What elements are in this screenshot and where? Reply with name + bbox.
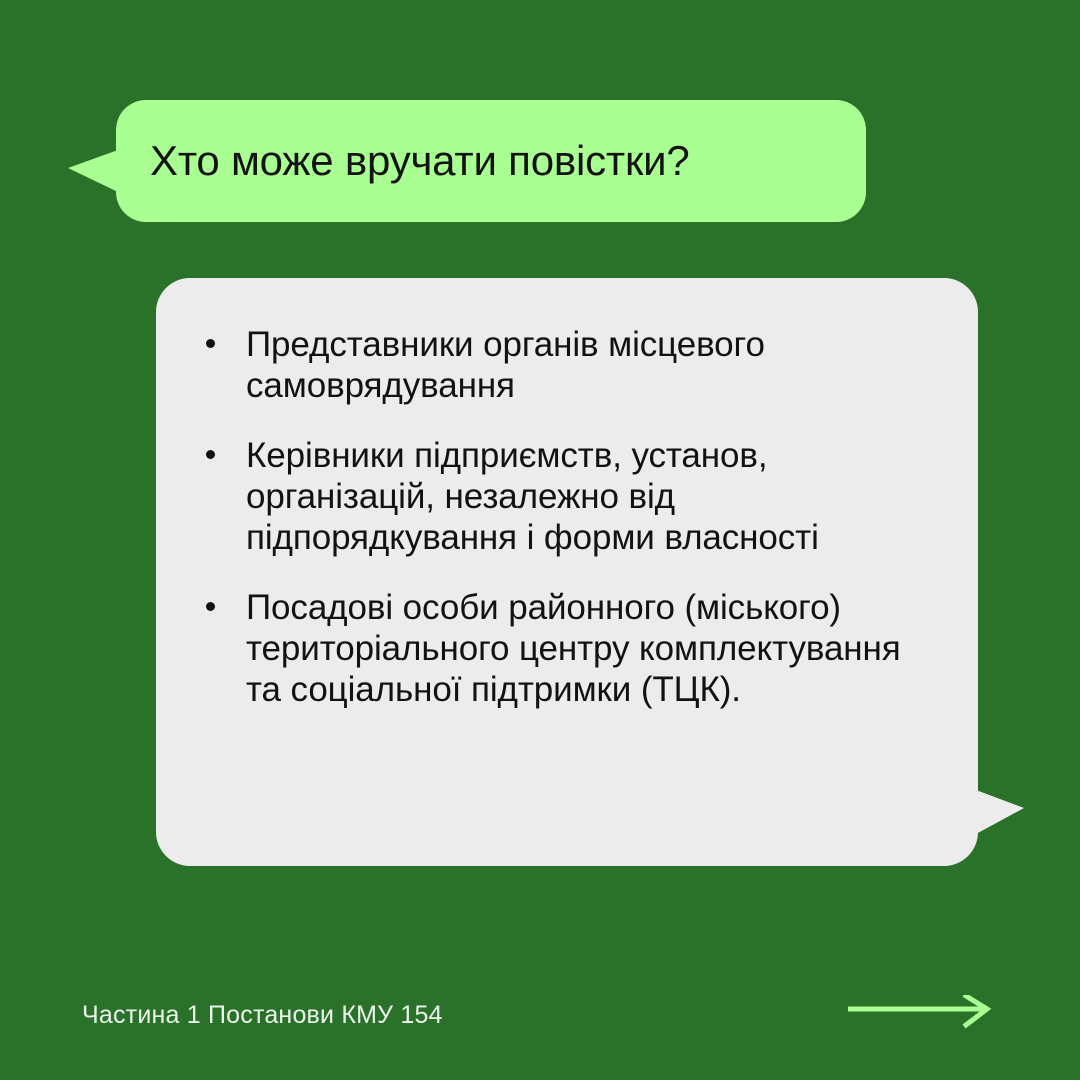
list-item-label: Керівники підприємств, установ, організа… xyxy=(246,436,819,557)
bullet-dot-icon xyxy=(206,450,215,459)
bullet-dot-icon xyxy=(206,602,215,611)
answer-bullet-list: Представники органів місцевого самовряду… xyxy=(196,324,938,710)
list-item: Представники органів місцевого самовряду… xyxy=(196,324,938,406)
list-item-label: Посадові особи районного (міського) тери… xyxy=(246,588,901,709)
question-bubble: Хто може вручати повістки? xyxy=(116,100,866,222)
question-text: Хто може вручати повістки? xyxy=(116,138,724,184)
list-item: Посадові особи районного (міського) тери… xyxy=(196,587,938,710)
question-bubble-tail-icon xyxy=(68,150,118,192)
footer-source-caption: Частина 1 Постанови КМУ 154 xyxy=(82,1000,443,1030)
answer-bubble: Представники органів місцевого самовряду… xyxy=(156,278,978,866)
footer: Частина 1 Постанови КМУ 154 xyxy=(0,995,1080,1055)
bullet-dot-icon xyxy=(206,339,215,348)
slide-canvas: Хто може вручати повістки? Представники … xyxy=(0,0,1080,1080)
list-item-label: Представники органів місцевого самовряду… xyxy=(246,325,765,405)
answer-bubble-tail-icon xyxy=(976,790,1024,834)
arrow-right-icon[interactable] xyxy=(848,995,998,1033)
list-item: Керівники підприємств, установ, організа… xyxy=(196,435,938,558)
